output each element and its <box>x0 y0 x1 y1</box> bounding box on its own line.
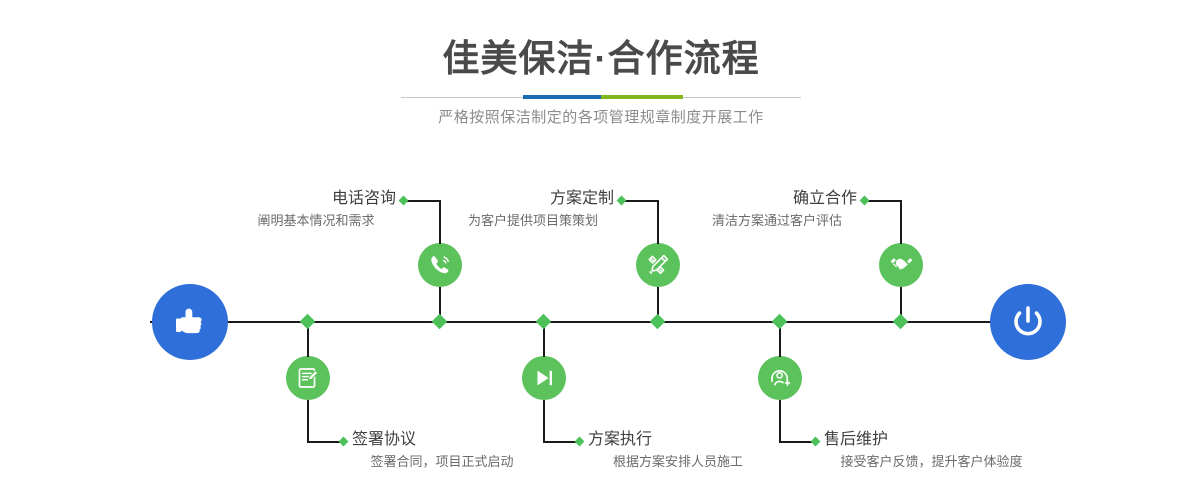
step-node-3[interactable] <box>636 243 680 287</box>
axis-marker-4 <box>536 314 552 330</box>
label-marker-4 <box>575 437 585 447</box>
timeline-end-node <box>990 284 1066 360</box>
step-title-2: 签署协议 <box>352 429 532 451</box>
axis-marker-5 <box>893 314 909 330</box>
step-desc-4: 根据方案安排人员施工 <box>588 451 768 473</box>
page-title: 佳美保洁·合作流程 <box>0 36 1202 82</box>
axis-marker-3 <box>650 314 666 330</box>
divider-blue-segment <box>523 95 601 99</box>
title-divider <box>401 95 801 99</box>
step-title-5: 确立合作 <box>697 188 857 210</box>
step-label-6: 售后维护 接受客户反馈，提升客户体验度 <box>824 429 1039 473</box>
axis-marker-2 <box>300 314 316 330</box>
label-marker-1 <box>399 196 409 206</box>
timeline-axis <box>150 321 1052 323</box>
connector-stem-6b <box>779 400 781 442</box>
step-label-5: 确立合作 清洁方案通过客户评估 <box>697 188 857 232</box>
handshake-icon <box>888 252 914 278</box>
timeline-start-node <box>152 284 228 360</box>
step-desc-6: 接受客户反馈，提升客户体验度 <box>824 451 1039 473</box>
step-title-4: 方案执行 <box>588 429 768 451</box>
connector-elbow-5 <box>865 200 901 202</box>
axis-marker-6 <box>772 314 788 330</box>
label-marker-6 <box>811 437 821 447</box>
step-label-1: 电话咨询 阐明基本情况和需求 <box>236 188 396 232</box>
label-marker-2 <box>339 437 349 447</box>
page-subtitle: 严格按照保洁制定的各项管理规章制度开展工作 <box>0 105 1202 131</box>
step-title-3: 方案定制 <box>452 188 614 210</box>
connector-stem-2b <box>307 400 309 442</box>
step-node-1[interactable] <box>418 243 462 287</box>
power-icon <box>1007 301 1049 343</box>
connector-stem-1 <box>439 200 441 244</box>
step-desc-2: 签署合同，项目正式启动 <box>352 451 532 473</box>
step-title-6: 售后维护 <box>824 429 1039 451</box>
label-marker-3 <box>617 196 627 206</box>
pointing-hand-icon <box>170 302 210 342</box>
phone-icon <box>427 252 453 278</box>
connector-elbow-1 <box>404 200 440 202</box>
connector-elbow-3 <box>622 200 658 202</box>
contract-pen-icon <box>295 365 321 391</box>
step-desc-5: 清洁方案通过客户评估 <box>697 210 857 232</box>
pencil-ruler-icon <box>645 252 671 278</box>
step-node-5[interactable] <box>879 243 923 287</box>
step-title-1: 电话咨询 <box>236 188 396 210</box>
divider-green-segment <box>601 95 683 99</box>
play-forward-icon <box>531 365 557 391</box>
flow-diagram-canvas: 佳美保洁·合作流程 严格按照保洁制定的各项管理规章制度开展工作 <box>0 0 1202 502</box>
connector-stem-5 <box>900 200 902 244</box>
step-desc-3: 为客户提供项目策策划 <box>452 210 614 232</box>
step-node-6[interactable] <box>758 356 802 400</box>
axis-marker-1 <box>432 314 448 330</box>
step-label-4: 方案执行 根据方案安排人员施工 <box>588 429 768 473</box>
step-node-4[interactable] <box>522 356 566 400</box>
connector-stem-4b <box>543 400 545 442</box>
step-desc-1: 阐明基本情况和需求 <box>236 210 396 232</box>
step-label-3: 方案定制 为客户提供项目策策划 <box>452 188 614 232</box>
step-node-2[interactable] <box>286 356 330 400</box>
support-agent-icon <box>767 365 793 391</box>
connector-stem-3 <box>657 200 659 244</box>
label-marker-5 <box>860 196 870 206</box>
step-label-2: 签署协议 签署合同，项目正式启动 <box>352 429 532 473</box>
